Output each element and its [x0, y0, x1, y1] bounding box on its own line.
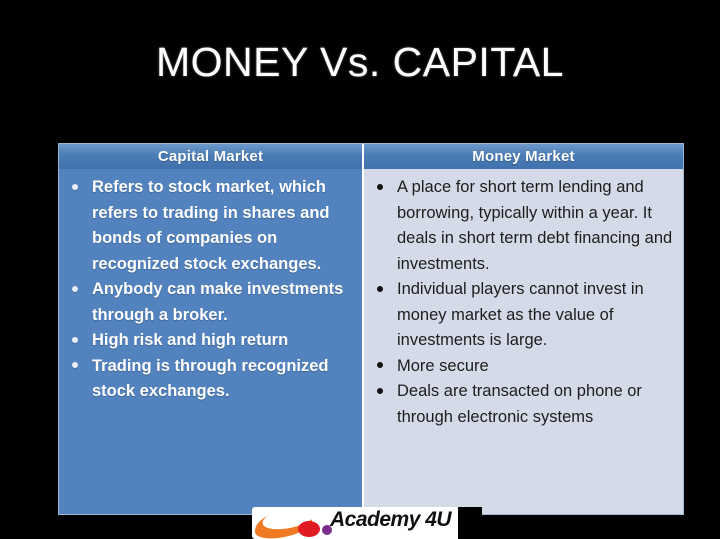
list-item: Anybody can make investments through a b… — [61, 277, 358, 328]
bullet-list-capital-market: Refers to stock market, which refers to … — [61, 175, 358, 405]
list-item: High risk and high return — [61, 328, 358, 354]
table-body-row: Refers to stock market, which refers to … — [59, 169, 683, 514]
page-title: MONEY Vs. CAPITAL — [0, 38, 720, 86]
list-item-text: Refers to stock market, which refers to … — [92, 178, 329, 273]
bullet-dot-icon — [377, 388, 383, 394]
logo-wordmark: Academy 4U — [330, 508, 451, 532]
table-header-row: Capital Market Money Market — [59, 144, 683, 169]
list-item: Deals are transacted on phone or through… — [366, 379, 679, 430]
bullet-dot-icon — [72, 286, 78, 292]
list-item-text: More secure — [397, 357, 489, 375]
bullet-dot-icon — [377, 184, 383, 190]
list-item-text: Individual players cannot invest in mone… — [397, 280, 644, 349]
list-item: More secure — [366, 354, 679, 380]
bullet-dot-icon — [72, 337, 78, 343]
bullet-list-money-market: A place for short term lending and borro… — [366, 175, 679, 430]
red-dot-icon — [298, 521, 320, 537]
comparison-table: Capital Market Money Market Refers to st… — [58, 143, 684, 515]
column-header-money-market: Money Market — [364, 144, 683, 169]
list-item-text: Deals are transacted on phone or through… — [397, 382, 642, 426]
cell-capital-market: Refers to stock market, which refers to … — [59, 169, 364, 514]
column-header-capital-market: Capital Market — [59, 144, 364, 169]
bullet-dot-icon — [72, 184, 78, 190]
bullet-dot-icon — [377, 286, 383, 292]
bullet-dot-icon — [377, 362, 383, 368]
slide-canvas: MONEY Vs. CAPITAL Capital Market Money M… — [0, 0, 720, 539]
logo-clip-mask — [458, 507, 482, 539]
list-item: Trading is through recognized stock exch… — [61, 354, 358, 405]
list-item: Refers to stock market, which refers to … — [61, 175, 358, 277]
watermark-logo: Academy 4U — [252, 507, 480, 539]
list-item-text: Trading is through recognized stock exch… — [92, 357, 329, 401]
bullet-dot-icon — [72, 362, 78, 368]
list-item-text: High risk and high return — [92, 331, 288, 349]
list-item: Individual players cannot invest in mone… — [366, 277, 679, 354]
list-item-text: Anybody can make investments through a b… — [92, 280, 343, 324]
cell-money-market: A place for short term lending and borro… — [364, 169, 683, 514]
list-item-text: A place for short term lending and borro… — [397, 178, 672, 273]
list-item: A place for short term lending and borro… — [366, 175, 679, 277]
